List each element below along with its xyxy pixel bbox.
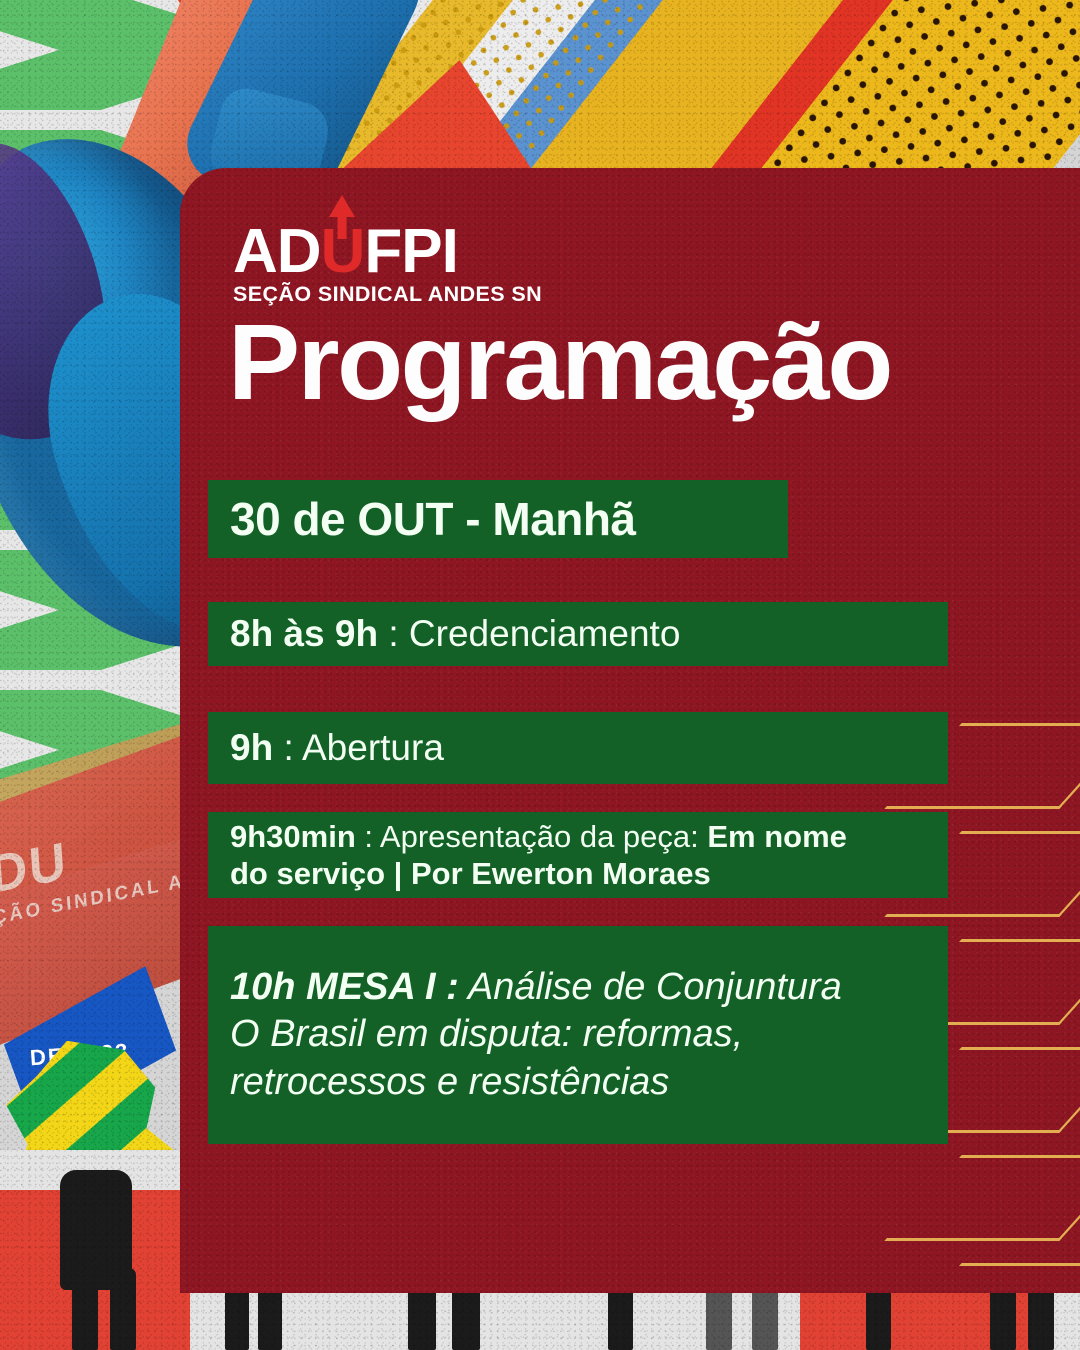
schedule-item-apresentacao-peca: 9h30min : Apresentação da peça: Em nomed… bbox=[208, 812, 948, 898]
schedule-item-4-time: 10h MESA I : bbox=[230, 966, 459, 1008]
schedule-item-4-line3: retrocessos e resistências bbox=[230, 1061, 669, 1103]
logo-text-fpi: FPI bbox=[364, 217, 457, 286]
schedule-item-2-time: 9h bbox=[230, 727, 273, 768]
schedule-item-4-text: 10h MESA I : Análise de ConjunturaO Bras… bbox=[208, 964, 948, 1107]
schedule-item-4-line2: O Brasil em disputa: reformas, bbox=[230, 1013, 743, 1055]
marcher-leg-1a bbox=[72, 1255, 98, 1350]
schedule-item-1-time: 8h às 9h bbox=[230, 613, 378, 654]
schedule-item-1-separator: : bbox=[378, 613, 409, 654]
content-panel: ADUFPI SEÇÃO SINDICAL ANDES SN Programaç… bbox=[180, 168, 1080, 1293]
adufpi-logo: ADUFPI SEÇÃO SINDICAL ANDES SN bbox=[233, 223, 542, 307]
schedule-item-mesa-1: 10h MESA I : Análise de ConjunturaO Bras… bbox=[208, 926, 948, 1144]
schedule-item-2-description: Abertura bbox=[302, 727, 444, 768]
up-arrow-stem-icon bbox=[338, 213, 347, 239]
gold-chevron-5 bbox=[884, 1155, 1080, 1241]
schedule-item-3-separator: : bbox=[356, 819, 380, 854]
poster-root: ADU SEÇÃO SINDICAL AN DE 1823 bbox=[0, 0, 1080, 1350]
schedule-item-3-description: Apresentação da peça: bbox=[380, 819, 707, 854]
schedule-item-3-text: 9h30min : Apresentação da peça: Em nomed… bbox=[208, 818, 948, 892]
schedule-item-4-separator bbox=[459, 966, 468, 1008]
schedule-item-credenciamento: 8h às 9h : Credenciamento bbox=[208, 602, 948, 666]
logo-wordmark: ADUFPI bbox=[233, 223, 542, 280]
date-banner: 30 de OUT - Manhã bbox=[208, 480, 788, 558]
logo-text-ad: AD bbox=[233, 217, 321, 286]
gold-chevron-6 bbox=[884, 1263, 1080, 1293]
page-title: Programação bbox=[228, 308, 891, 416]
schedule-item-1-text: 8h às 9h : Credenciamento bbox=[208, 614, 948, 655]
schedule-item-2-text: 9h : Abertura bbox=[208, 728, 948, 769]
schedule-item-4-line1: Análise de Conjuntura bbox=[468, 966, 842, 1008]
logo-letter-u: U bbox=[321, 223, 365, 280]
schedule-item-3-title-part1: Em nome bbox=[707, 819, 847, 854]
gold-chevron-decoration bbox=[940, 723, 1080, 1293]
schedule-item-3-time: 9h30min bbox=[230, 819, 356, 854]
schedule-item-3-title-part2: do serviço | Por Ewerton Moraes bbox=[230, 856, 711, 891]
schedule-item-1-description: Credenciamento bbox=[409, 613, 680, 654]
date-banner-label: 30 de OUT - Manhã bbox=[208, 492, 788, 546]
marcher-leg-5b bbox=[752, 1284, 778, 1350]
marcher-leg-1b bbox=[110, 1268, 136, 1350]
schedule-item-2-separator: : bbox=[273, 727, 302, 768]
schedule-item-abertura: 9h : Abertura bbox=[208, 712, 948, 784]
